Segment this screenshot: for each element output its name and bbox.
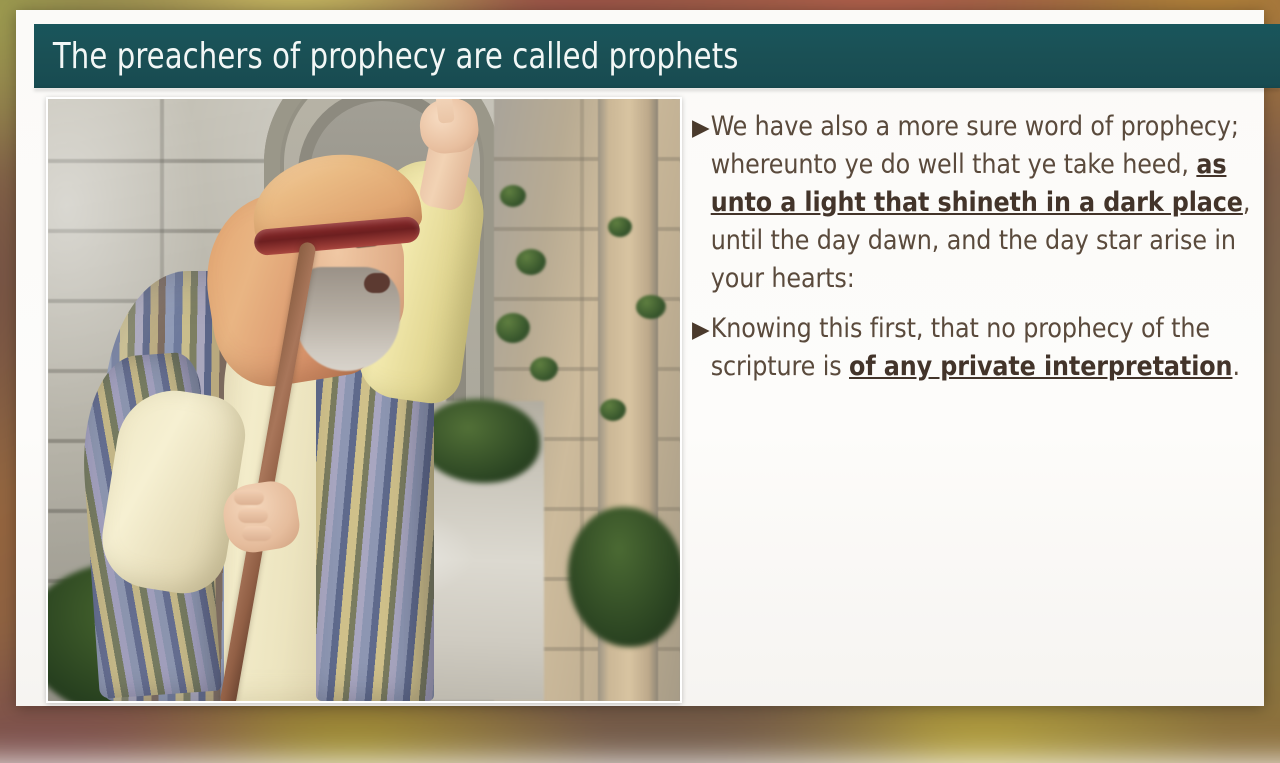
bullet-emphasis: of any private interpretation: [849, 351, 1232, 382]
knuckle: [242, 526, 272, 541]
prophet-illustration: [48, 99, 680, 701]
bullet-text: We have also a more sure word of prophec…: [711, 108, 1260, 298]
knuckle: [238, 508, 268, 523]
bullet-arrow-icon: ▶: [692, 310, 710, 348]
list-item: ▶ Knowing this first, that no prophecy o…: [692, 310, 1260, 386]
slide-panel: The preachers of prophecy are called pro…: [16, 10, 1264, 706]
bullet-text: Knowing this first, that no prophecy of …: [711, 310, 1260, 386]
vine-cluster: [530, 357, 558, 381]
bullet-segment: .: [1232, 351, 1239, 382]
open-mouth: [364, 273, 390, 293]
knuckle: [234, 490, 264, 505]
list-item: ▶ We have also a more sure word of proph…: [692, 108, 1260, 298]
page-title: The preachers of prophecy are called pro…: [34, 36, 739, 77]
scripture-text-column: ▶ We have also a more sure word of proph…: [692, 108, 1260, 398]
illustration-frame: [46, 97, 682, 703]
slide-title-bar: The preachers of prophecy are called pro…: [34, 24, 1280, 88]
prophet-figure: [48, 99, 528, 701]
vine-cluster: [608, 217, 632, 237]
bullet-segment: We have also a more sure word of prophec…: [711, 111, 1239, 180]
vine-cluster: [636, 295, 666, 319]
bullet-arrow-icon: ▶: [692, 108, 710, 146]
vine-cluster: [600, 399, 626, 421]
